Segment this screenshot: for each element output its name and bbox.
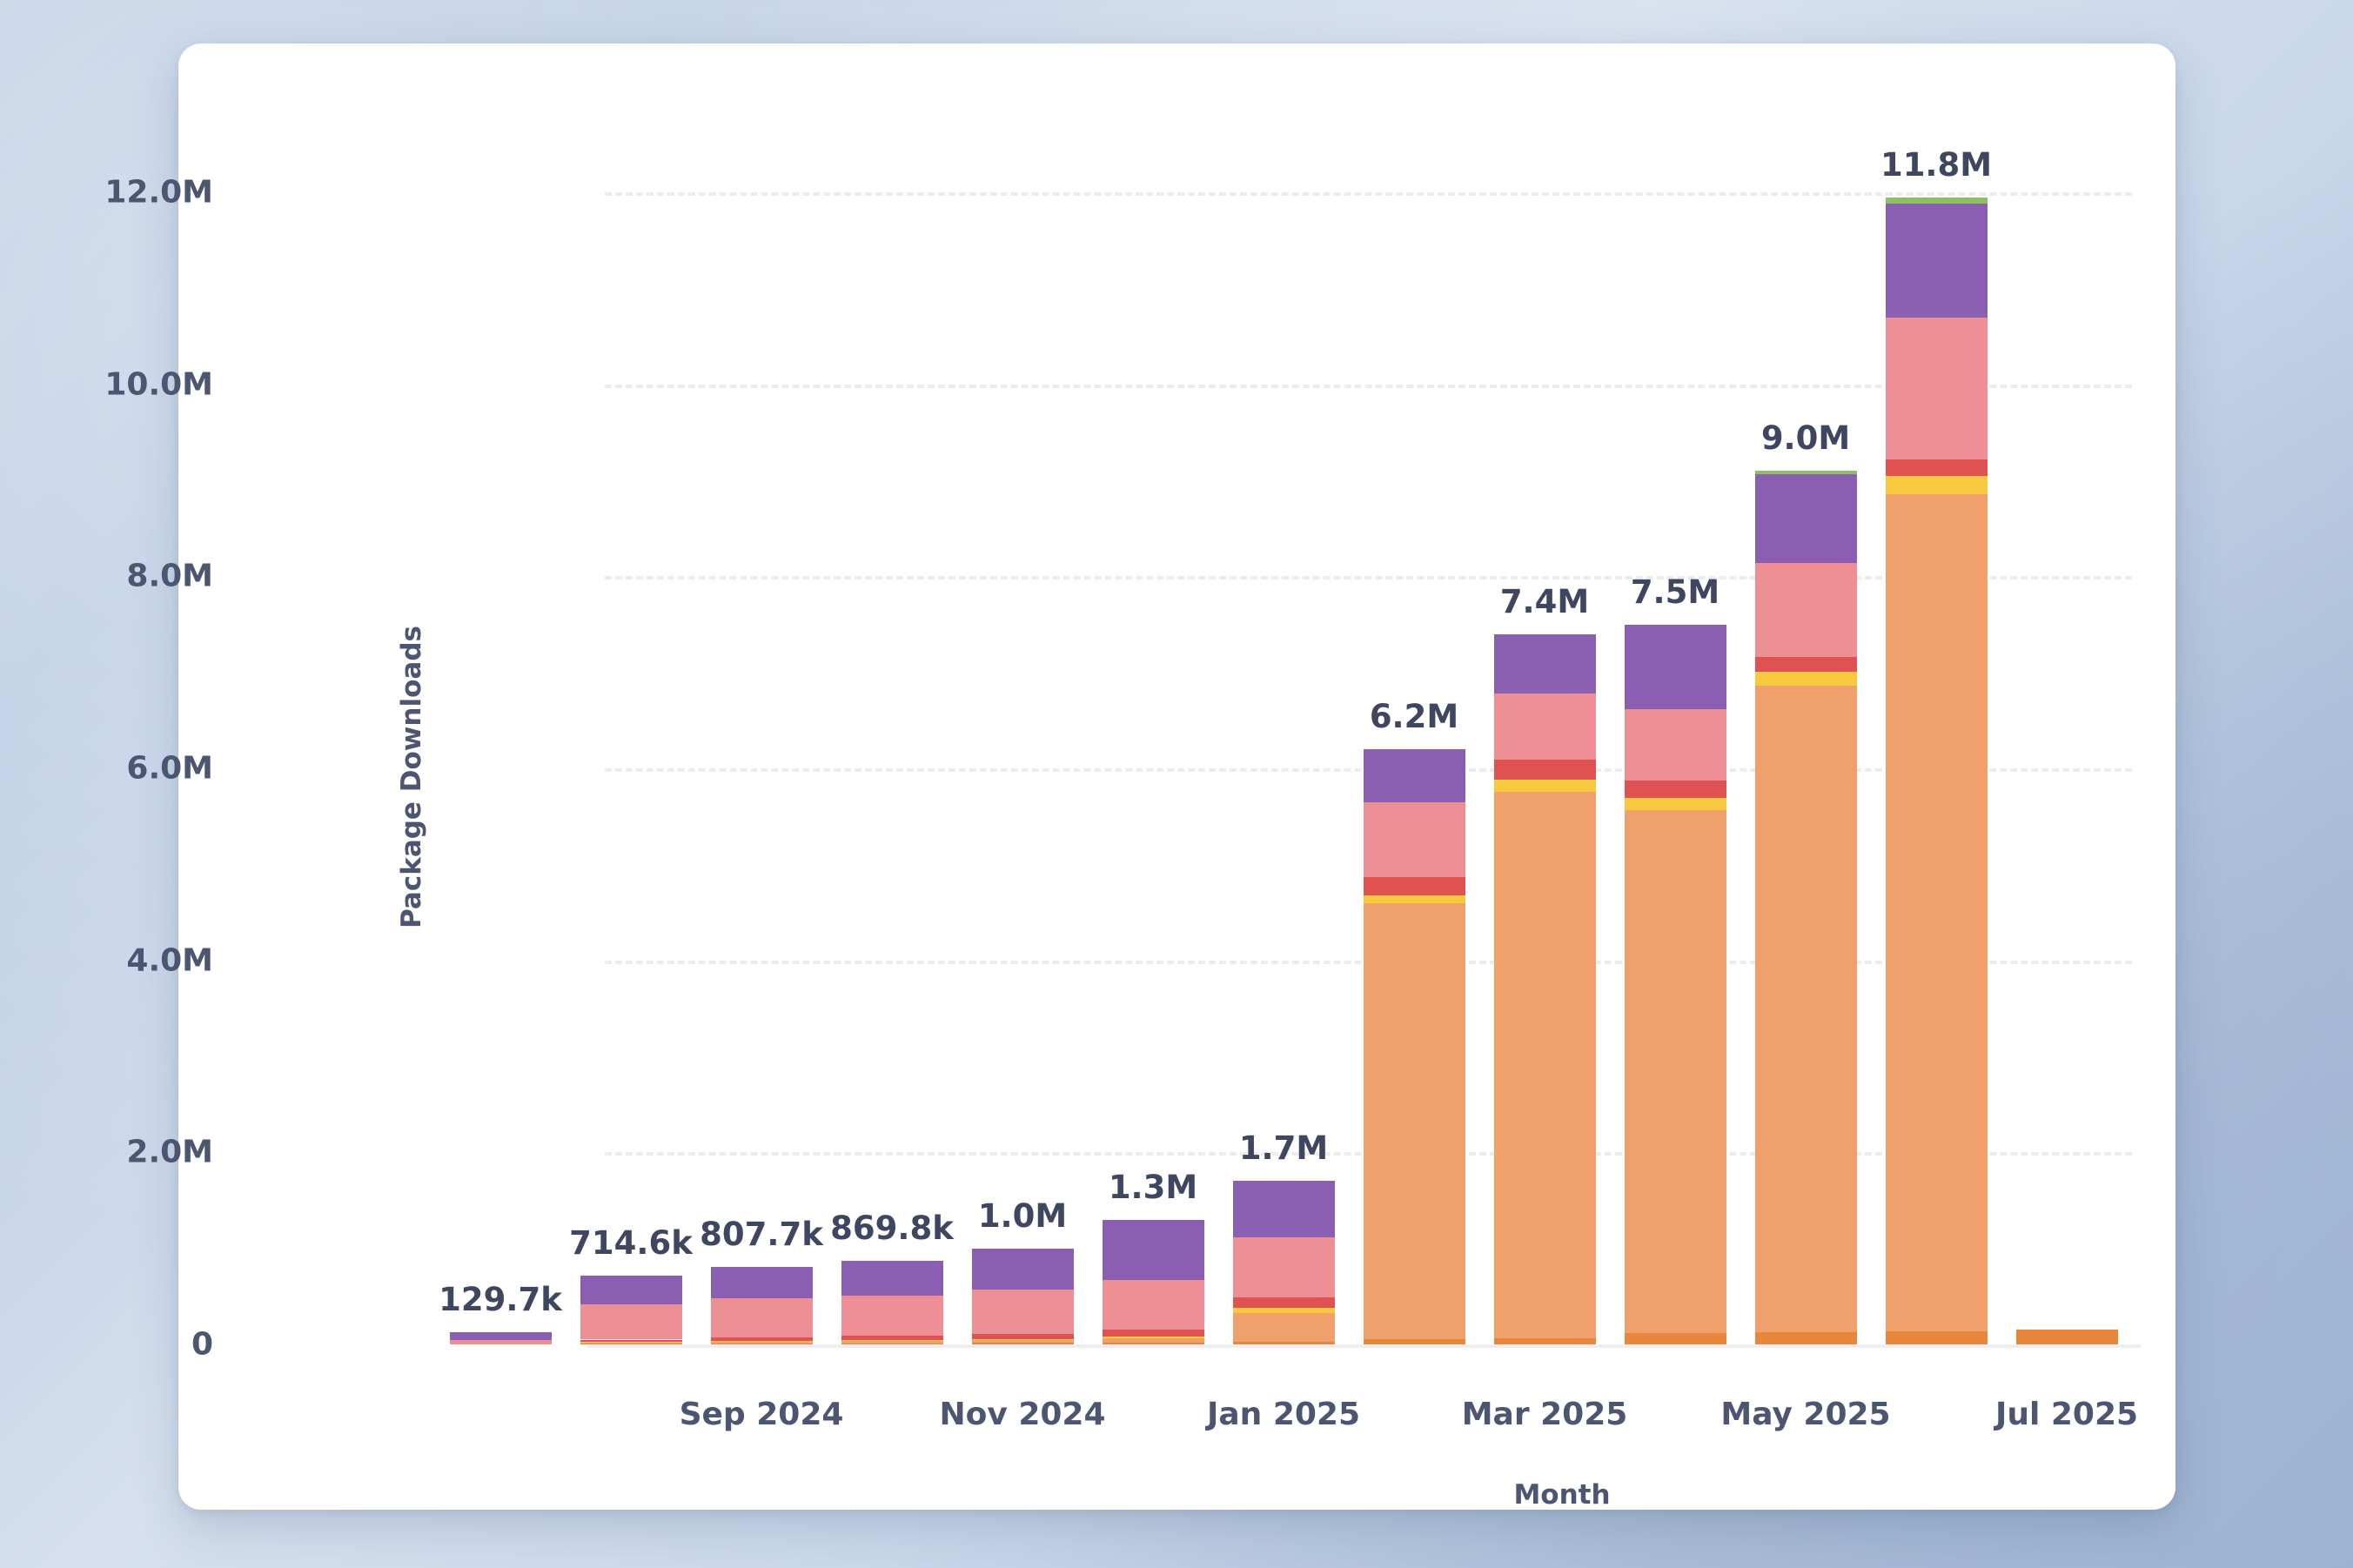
bar-total-label: 1.0M — [978, 1197, 1067, 1235]
bar-segment-series-orange[interactable] — [1625, 810, 1726, 1333]
bar-segment-series-pink[interactable] — [580, 1304, 682, 1340]
bar-segment-series-pink[interactable] — [1625, 709, 1726, 781]
y-axis-tick-label: 8.0M — [0, 559, 213, 594]
bar-segment-series-red[interactable] — [1625, 781, 1726, 798]
x-axis-tick-label: May 2025 — [1720, 1397, 1890, 1432]
x-axis-tick-label: Mar 2025 — [1462, 1397, 1628, 1432]
bar-segment-series-purple[interactable] — [1364, 749, 1465, 802]
bar-segment-series-purple[interactable] — [1886, 204, 1988, 318]
y-axis-tick-label: 0 — [0, 1327, 213, 1363]
bar-segment-series-yellow[interactable] — [1364, 895, 1465, 903]
bar-segment-series-red[interactable] — [841, 1336, 943, 1340]
bar-segment-series-pink[interactable] — [1755, 563, 1857, 657]
bar-segment-series-green[interactable] — [1886, 198, 1988, 204]
bar-segment-series-yellow[interactable] — [1494, 780, 1596, 791]
bar-segment-series-pink[interactable] — [1886, 318, 1988, 459]
bar-segment-series-red[interactable] — [1755, 657, 1857, 672]
bar-segment-series-pink[interactable] — [841, 1296, 943, 1336]
bar-segment-series-red[interactable] — [1494, 760, 1596, 780]
bar-segment-series-orange[interactable] — [972, 1340, 1074, 1344]
bar-segment-series-pink[interactable] — [1494, 694, 1596, 760]
bar-segment-series-pink[interactable] — [711, 1298, 813, 1337]
bar-segment-series-orange[interactable] — [1364, 903, 1465, 1340]
bar-segment-series-red[interactable] — [1233, 1297, 1335, 1308]
bar-segment-series-pink[interactable] — [972, 1290, 1074, 1334]
bar-segment-series-orange[interactable] — [1886, 494, 1988, 1331]
bar-segment-series-green[interactable] — [1755, 471, 1857, 473]
y-axis-title: Package Downloads — [396, 626, 427, 928]
bar-segment-series-dark-orange[interactable] — [1364, 1339, 1465, 1344]
x-axis-tick-label: Sep 2024 — [680, 1397, 844, 1432]
bar-segment-series-yellow[interactable] — [1886, 476, 1988, 494]
bar-segment-series-orange[interactable] — [841, 1341, 943, 1344]
y-axis-tick-label: 6.0M — [0, 751, 213, 787]
bar-segment-series-dark-orange[interactable] — [1755, 1332, 1857, 1344]
bar-total-label: 714.6k — [569, 1224, 693, 1262]
bar-segment-series-red[interactable] — [580, 1340, 682, 1343]
bar-total-label: 807.7k — [700, 1216, 823, 1253]
bar-segment-series-pink[interactable] — [1103, 1280, 1204, 1330]
bar-segment-series-dark-orange[interactable] — [1233, 1342, 1335, 1344]
bar-segment-series-red[interactable] — [1103, 1330, 1204, 1337]
bar-segment-series-dark-orange[interactable] — [1494, 1338, 1596, 1344]
bar-segment-series-orange[interactable] — [1103, 1338, 1204, 1343]
bar-segment-series-yellow[interactable] — [1755, 672, 1857, 687]
x-axis-title: Month — [1513, 1479, 1610, 1511]
bar-segment-series-pink[interactable] — [1233, 1237, 1335, 1297]
gridline — [605, 192, 2132, 196]
bar-total-label: 129.7k — [439, 1281, 562, 1318]
bar-total-label: 6.2M — [1370, 698, 1458, 735]
x-axis-baseline — [587, 1344, 2141, 1348]
bar-segment-series-purple[interactable] — [1625, 625, 1726, 710]
bar-total-label: 1.3M — [1109, 1169, 1197, 1206]
y-axis-tick-label: 2.0M — [0, 1135, 213, 1170]
bar-segment-series-pink[interactable] — [1364, 802, 1465, 877]
bar-segment-series-red[interactable] — [1886, 459, 1988, 476]
x-axis-tick-label: Nov 2024 — [939, 1397, 1105, 1432]
bar-total-label: 9.0M — [1761, 419, 1850, 457]
bar-segment-series-pink[interactable] — [450, 1340, 552, 1344]
bar-segment-series-purple[interactable] — [450, 1332, 552, 1340]
bar-segment-series-purple[interactable] — [580, 1276, 682, 1304]
bar-segment-series-orange[interactable] — [711, 1342, 813, 1344]
bar-segment-series-purple[interactable] — [1755, 474, 1857, 563]
chart-card: 02.0M4.0M6.0M8.0M10.0M12.0M129.7k714.6k8… — [178, 44, 2175, 1510]
y-axis-tick-label: 4.0M — [0, 942, 213, 978]
bar-segment-series-yellow[interactable] — [1103, 1337, 1204, 1338]
bar-segment-series-purple[interactable] — [711, 1267, 813, 1298]
bar-segment-series-orange[interactable] — [1755, 686, 1857, 1331]
bar-total-label: 1.7M — [1239, 1129, 1328, 1167]
y-axis-tick-label: 10.0M — [0, 366, 213, 402]
bar-segment-series-yellow[interactable] — [1233, 1308, 1335, 1313]
bar-segment-series-yellow[interactable] — [1625, 798, 1726, 810]
bar-segment-series-purple[interactable] — [841, 1261, 943, 1296]
bar-total-label: 11.8M — [1880, 146, 1992, 184]
bar-segment-series-dark-orange[interactable] — [1886, 1331, 1988, 1344]
bar-total-label: 869.8k — [830, 1210, 954, 1247]
bar-segment-series-purple[interactable] — [972, 1249, 1074, 1290]
bar-segment-series-purple[interactable] — [1233, 1181, 1335, 1237]
bar-segment-series-orange[interactable] — [1494, 792, 1596, 1339]
bar-segment-series-red[interactable] — [1364, 877, 1465, 895]
bar-segment-series-purple[interactable] — [1103, 1220, 1204, 1280]
bar-total-label: 7.4M — [1500, 583, 1589, 620]
bar-segment-series-dark-orange[interactable] — [1625, 1333, 1726, 1344]
bar-segment-series-dark-orange[interactable] — [1103, 1343, 1204, 1344]
bar-segment-series-orange[interactable] — [1233, 1313, 1335, 1342]
x-axis-tick-label: Jul 2025 — [1995, 1397, 2138, 1432]
bar-total-label: 7.5M — [1631, 573, 1719, 611]
x-axis-tick-label: Jan 2025 — [1207, 1397, 1360, 1432]
bar-segment-series-red[interactable] — [972, 1334, 1074, 1339]
bar-segment-series-red[interactable] — [711, 1337, 813, 1341]
bar-segment-series-dark-orange[interactable] — [2016, 1330, 2118, 1344]
chart-plot-area: 02.0M4.0M6.0M8.0M10.0M12.0M129.7k714.6k8… — [178, 44, 2175, 1510]
bar-segment-series-purple[interactable] — [1494, 634, 1596, 694]
y-axis-tick-label: 12.0M — [0, 175, 213, 211]
